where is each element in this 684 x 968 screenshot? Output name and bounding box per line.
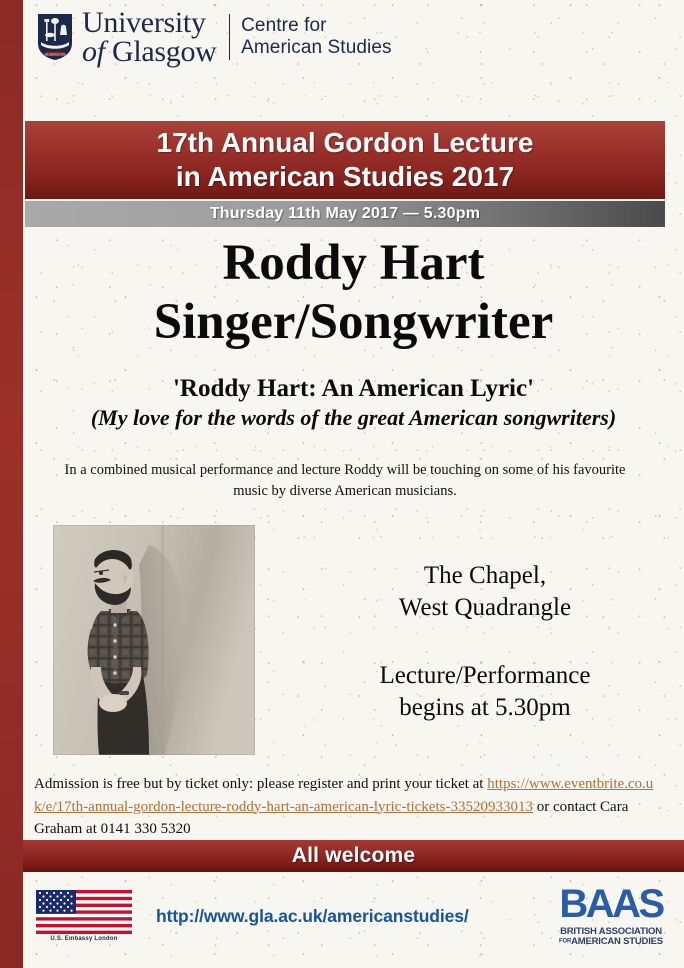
svg-text:VIA VERITAS VITA: VIA VERITAS VITA	[44, 53, 66, 57]
admission-note: Admission is free but by ticket only: pl…	[34, 773, 664, 841]
centre-name-line-2: American Studies	[241, 37, 392, 59]
logo-divider	[229, 14, 231, 60]
baas-subtitle-line-2: FORAMERICAN STUDIES	[549, 937, 673, 947]
admission-intro-text: Admission is free but by ticket only: pl…	[34, 776, 483, 792]
university-wordmark: University of Glasgow	[82, 8, 217, 67]
wordmark-of: of	[82, 35, 105, 68]
venue-line-1: The Chapel,	[300, 560, 670, 592]
baas-logo: BAAS BRITISH ASSOCIATION FORAMERICAN STU…	[549, 884, 673, 948]
performer-name: Roddy Hart	[23, 234, 684, 293]
americanstudies-website-link[interactable]: http://www.gla.ac.uk/americanstudies/	[156, 906, 469, 927]
all-welcome-text: All welcome	[292, 844, 416, 868]
event-title-text: 17th Annual Gordon Lecture in American S…	[157, 126, 534, 194]
performer-role: Singer/Songwriter	[23, 293, 684, 352]
wordmark-line-2: of Glasgow	[82, 37, 217, 66]
timing-line-1: Lecture/Performance	[300, 660, 670, 692]
event-title-banner: 17th Annual Gordon Lecture in American S…	[25, 121, 665, 199]
lecture-description: In a combined musical performance and le…	[55, 460, 635, 503]
venue-line-2: West Quadrangle	[300, 592, 670, 624]
all-welcome-bar: All welcome	[23, 840, 684, 872]
centre-name: Centre for American Studies	[241, 15, 392, 60]
event-title-line-2: in American Studies 2017	[157, 160, 534, 194]
embassy-caption: U.S. Embassy London	[36, 936, 132, 942]
timing-block: Lecture/Performance begins at 5.30pm	[300, 660, 670, 724]
baas-wordmark: BAAS	[549, 884, 673, 924]
event-date-bar: Thursday 11th May 2017 — 5.30pm	[25, 201, 665, 227]
lecture-title: 'Roddy Hart: An American Lyric'	[23, 375, 684, 403]
event-date-text: Thursday 11th May 2017 — 5.30pm	[210, 205, 480, 223]
us-embassy-london-logo: U.S. Embassy London	[36, 890, 132, 942]
portrait-illustration	[53, 525, 255, 755]
university-of-glasgow-logo: VIA VERITAS VITA University of Glasgow C…	[37, 8, 392, 67]
venue-block: The Chapel, West Quadrangle	[300, 560, 670, 624]
baas-subtitle: BRITISH ASSOCIATION FORAMERICAN STUDIES	[549, 927, 673, 948]
wordmark-line-1: University	[82, 8, 217, 37]
wordmark-glasgow: Glasgow	[112, 35, 217, 68]
glasgow-crest-icon: VIA VERITAS VITA	[37, 13, 73, 61]
baas-subtitle-for: FOR	[559, 939, 571, 945]
event-title-line-1: 17th Annual Gordon Lecture	[157, 126, 534, 160]
poster-page: VIA VERITAS VITA University of Glasgow C…	[0, 0, 684, 968]
timing-line-2: begins at 5.30pm	[300, 692, 670, 724]
lecture-subtitle: (My love for the words of the great Amer…	[23, 405, 684, 431]
left-accent-stripe	[0, 0, 23, 968]
centre-name-line-1: Centre for	[241, 15, 392, 37]
poster-header: VIA VERITAS VITA University of Glasgow C…	[23, 0, 684, 110]
performer-portrait-photo	[53, 525, 255, 755]
poster-footer: U.S. Embassy London http://www.gla.ac.uk…	[23, 876, 684, 968]
baas-subtitle-american-studies: AMERICAN STUDIES	[571, 936, 663, 947]
us-flag-icon	[36, 890, 132, 934]
performer-heading: Roddy Hart Singer/Songwriter	[23, 234, 684, 352]
